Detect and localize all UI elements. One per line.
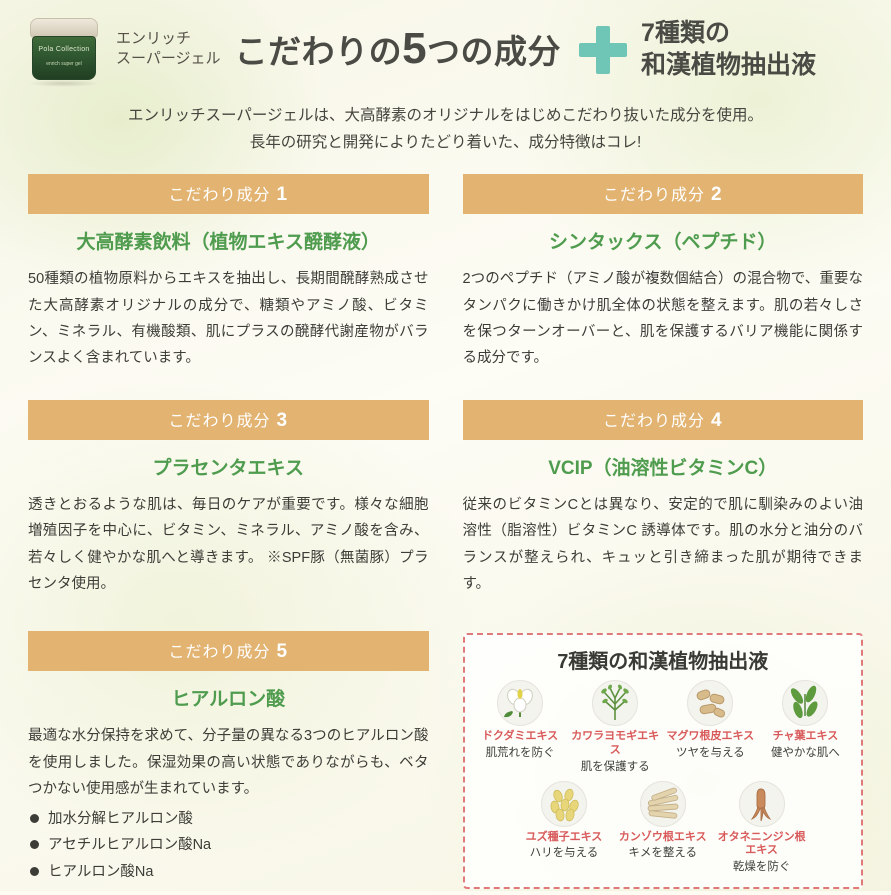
ingredient-card-1: こだわり成分1 大高酵素飲料（植物エキス醗酵液） 50種類の植物原料からエキスを…: [28, 174, 429, 378]
jar-label-line1: Pola Collection: [33, 46, 95, 53]
ingredient-band-num-5: 5: [276, 641, 288, 662]
intro-text: エンリッチスーパージェルは、大高酵素のオリジナルをはじめこだわり抜いた成分を使用…: [0, 92, 891, 160]
otaneninjin-root-icon: [739, 781, 785, 827]
herb-name: カンゾウ根エキス: [615, 831, 710, 845]
bullet-item: 加水分解ヒアルロン酸: [28, 806, 429, 832]
herb-desc: ハリを与える: [517, 846, 612, 861]
ingredient-band-label-4: こだわり成分: [603, 413, 705, 430]
herb-item: カワラヨモギエキス 肌を保護する: [568, 680, 663, 774]
jar-body: Pola Collection enrich super gel: [32, 36, 96, 80]
herb-name: ユズ種子エキス: [517, 831, 612, 845]
herb-name: チャ葉エキス: [760, 730, 851, 744]
ingredient-band-label-5: こだわり成分: [168, 644, 270, 661]
ingredient-title-3: プラセンタエキス: [28, 440, 429, 492]
herb-row-2: ユズ種子エキス ハリを与える: [473, 781, 854, 875]
bullet-item: アセチルヒアルロン酸Na: [28, 832, 429, 858]
ingredient-band-label-1: こだわり成分: [168, 187, 270, 204]
ingredient-body-5: 最適な水分保持を求めて、分子量の異なる3つのヒアルロン酸を使用しました。保湿効果…: [28, 723, 429, 802]
herb-desc: 健やかな肌へ: [760, 746, 851, 761]
headline-number: 5: [402, 24, 427, 73]
plus-icon: [577, 24, 627, 74]
bullet-dot-icon: [30, 840, 39, 849]
bullet-label: 加水分解ヒアルロン酸: [48, 806, 193, 832]
herb-row-1: ドクダミエキス 肌荒れを防ぐ: [473, 680, 854, 774]
herb-desc: 乾燥を防ぐ: [714, 860, 809, 875]
ingredient-card-4: こだわり成分4 VCIP（油溶性ビタミンC） 従来のビタミンCとは異なり、安定的…: [463, 378, 864, 604]
headline-left: こだわりの5つの成分: [235, 24, 561, 74]
herb-name: カワラヨモギエキス: [570, 730, 661, 758]
ingredient-band-3: こだわり成分3: [28, 400, 429, 440]
ingredient-title-4: VCIP（油溶性ビタミンC）: [463, 440, 864, 492]
bullet-item: ヒアルロン酸Na: [28, 859, 429, 885]
yomogi-leaf-icon: [592, 680, 638, 726]
herb-desc: 肌を保護する: [570, 760, 661, 775]
bullet-dot-icon: [30, 814, 39, 823]
ingredient-band-num-4: 4: [711, 410, 723, 431]
headline-right-line1: 7種類の: [641, 17, 816, 49]
herb-item: ドクダミエキス 肌荒れを防ぐ: [473, 680, 568, 774]
ingredient-band-num-1: 1: [276, 184, 288, 205]
headline-post: つの成分: [427, 33, 561, 70]
ingredient-body-1: 50種類の植物原料からエキスを抽出し、長期間醗酵熟成させた大高酵素オリジナルの成…: [28, 266, 429, 372]
herb-item: オタネニンジン根エキス 乾燥を防ぐ: [712, 781, 811, 875]
product-jar-image: Pola Collection enrich super gel: [18, 10, 110, 88]
herb-desc: ツヤを与える: [665, 746, 756, 761]
tea-leaf-icon: [782, 680, 828, 726]
bullet-label: ヒアルロン酸Na: [48, 859, 153, 885]
page-root: Pola Collection enrich super gel エンリッチ ス…: [0, 0, 891, 891]
herb-item: ユズ種子エキス ハリを与える: [515, 781, 614, 875]
dokudami-plant-icon: [497, 680, 543, 726]
herb-panel-cell: 7種類の和漢植物抽出液: [463, 603, 864, 895]
ingredient-band-2: こだわり成分2: [463, 174, 864, 214]
herb-item: チャ葉エキス 健やかな肌へ: [758, 680, 853, 774]
ingredient-card-5: こだわり成分5 ヒアルロン酸 最適な水分保持を求めて、分子量の異なる3つのヒアル…: [28, 603, 429, 895]
jar-shadow: [28, 80, 100, 87]
herb-name: ドクダミエキス: [475, 730, 566, 744]
intro-line2: 長年の研究と開発によりたどり着いた、成分特徴はコレ!: [40, 129, 851, 156]
magwa-root-icon: [687, 680, 733, 726]
herb-name: オタネニンジン根エキス: [714, 831, 809, 859]
yuzu-seed-icon: [541, 781, 587, 827]
herb-name: マグワ根皮エキス: [665, 730, 756, 744]
ingredient-bullets-5: 加水分解ヒアルロン酸 アセチルヒアルロン酸Na ヒアルロン酸Na: [28, 806, 429, 884]
ingredient-band-num-3: 3: [276, 410, 288, 431]
herb-desc: キメを整える: [615, 846, 710, 861]
headline-right: 7種類の 和漢植物抽出液: [641, 17, 816, 81]
ingredients-grid: こだわり成分1 大高酵素飲料（植物エキス醗酵液） 50種類の植物原料からエキスを…: [0, 174, 891, 895]
ingredient-body-2: 2つのペプチド（アミノ酸が複数個結合）の混合物で、重要なタンパクに働きかけ肌全体…: [463, 266, 864, 372]
brand-name-line1: エンリッチ: [116, 29, 221, 49]
jar-lid: [30, 18, 98, 38]
ingredient-title-1: 大高酵素飲料（植物エキス醗酵液）: [28, 214, 429, 266]
ingredient-body-3: 透きとおるような肌は、毎日のケアが重要です。様々な細胞増殖因子を中心に、ビタミン…: [28, 492, 429, 598]
ingredient-band-num-2: 2: [711, 184, 723, 205]
ingredient-title-5: ヒアルロン酸: [28, 671, 429, 723]
headline-right-line2: 和漢植物抽出液: [641, 49, 816, 81]
brand-name-line2: スーパージェル: [116, 49, 221, 69]
bullet-dot-icon: [30, 867, 39, 876]
ingredient-title-2: シンタックス（ペプチド）: [463, 214, 864, 266]
herb-desc: 肌荒れを防ぐ: [475, 746, 566, 761]
jar-label-line2: enrich super gel: [33, 61, 95, 67]
page-header: Pola Collection enrich super gel エンリッチ ス…: [0, 0, 891, 92]
herb-item: マグワ根皮エキス ツヤを与える: [663, 680, 758, 774]
ingredient-body-4: 従来のビタミンCとは異なり、安定的で肌に馴染みのよい油溶性（脂溶性）ビタミンC …: [463, 492, 864, 598]
herb-panel: 7種類の和漢植物抽出液: [463, 633, 864, 889]
intro-line1: エンリッチスーパージェルは、大高酵素のオリジナルをはじめこだわり抜いた成分を使用…: [40, 102, 851, 129]
bullet-label: アセチルヒアルロン酸Na: [48, 832, 211, 858]
ingredient-band-label-3: こだわり成分: [168, 413, 270, 430]
herb-panel-title: 7種類の和漢植物抽出液: [473, 645, 854, 674]
ingredient-band-1: こだわり成分1: [28, 174, 429, 214]
ingredient-band-label-2: こだわり成分: [603, 187, 705, 204]
headline-pre: こだわりの: [235, 33, 403, 70]
brand-name: エンリッチ スーパージェル: [116, 29, 221, 70]
ingredient-card-3: こだわり成分3 プラセンタエキス 透きとおるような肌は、毎日のケアが重要です。様…: [28, 378, 429, 604]
kanzo-root-icon: [640, 781, 686, 827]
ingredient-band-4: こだわり成分4: [463, 400, 864, 440]
herb-item: カンゾウ根エキス キメを整える: [613, 781, 712, 875]
ingredient-band-5: こだわり成分5: [28, 631, 429, 671]
ingredient-card-2: こだわり成分2 シンタックス（ペプチド） 2つのペプチド（アミノ酸が複数個結合）…: [463, 174, 864, 378]
